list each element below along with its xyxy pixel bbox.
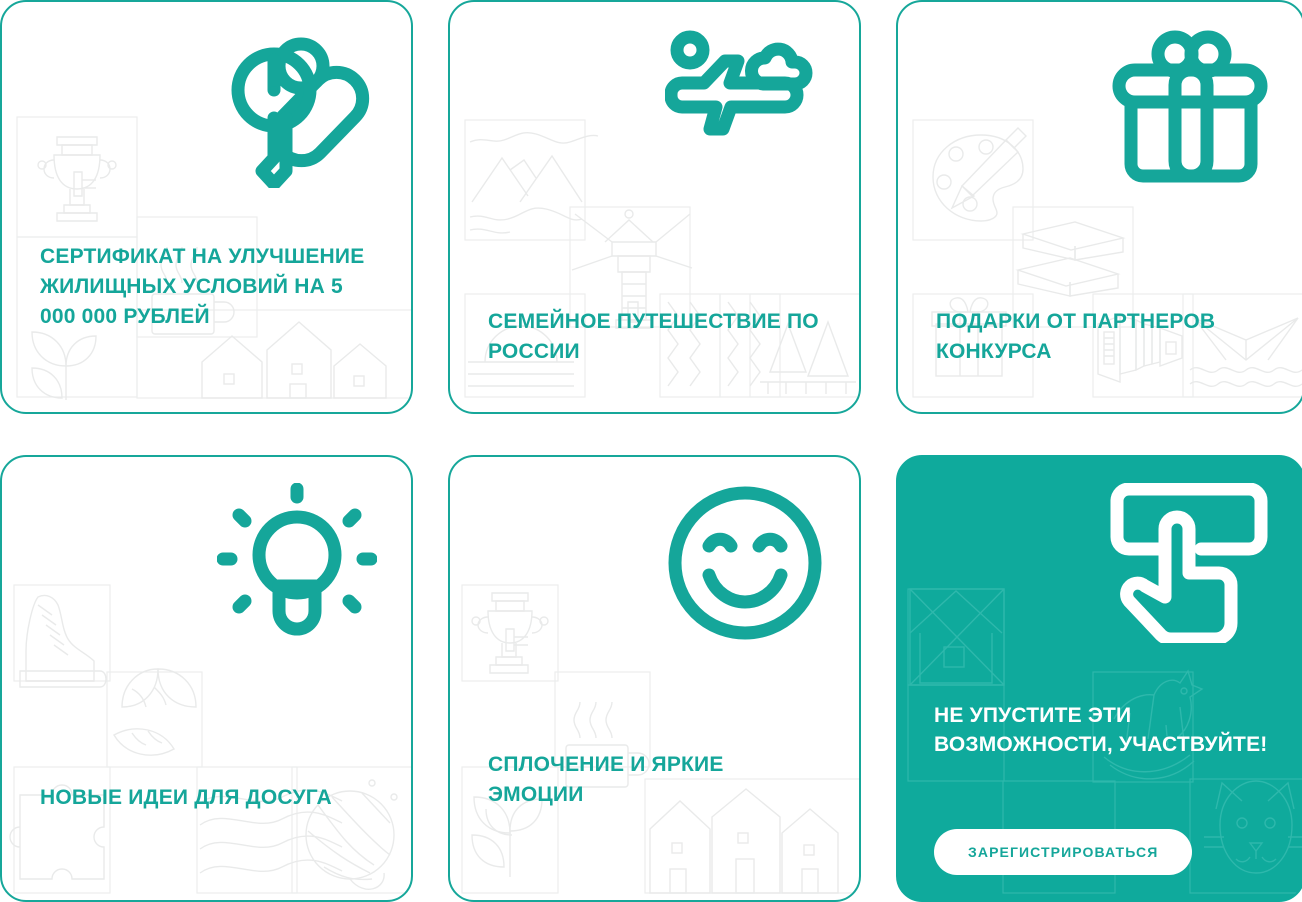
cat-icon xyxy=(1204,781,1302,873)
prize-card-label: Семейное путешествие по России xyxy=(488,307,825,367)
nuts-icon xyxy=(114,669,196,755)
prize-card-bright-emotions[interactable]: Сплочение и яркие эмоции xyxy=(448,455,861,902)
gift-icon xyxy=(1109,28,1269,188)
prize-card-label: Новые идеи для досуга xyxy=(40,783,377,813)
cta-headline: Не упустите эти возможности, участвуйте! xyxy=(934,702,1277,760)
ice-skate-icon xyxy=(20,595,106,687)
airplane-icon xyxy=(665,28,825,188)
keys-icon xyxy=(217,28,377,188)
prize-card-family-travel[interactable]: Семейное путешествие по России xyxy=(448,0,861,414)
register-button[interactable]: Зарегистрироваться xyxy=(934,829,1192,875)
lightbulb-icon xyxy=(217,483,377,643)
samovar-icon xyxy=(38,137,116,221)
prize-card-label: Подарки от партнеров конкурса xyxy=(936,307,1269,367)
mountains-icon xyxy=(470,133,598,233)
cta-card-register[interactable]: Не упустите эти возможности, участвуйте!… xyxy=(896,455,1302,902)
books-icon xyxy=(1018,222,1123,296)
prize-card-label: Сплочение и яркие эмоции xyxy=(488,750,825,810)
prize-card-label: Сертификат на улучшение жилищных условий… xyxy=(40,242,377,331)
prize-card-partner-gifts[interactable]: Подарки от партнеров конкурса xyxy=(896,0,1302,414)
houses-icon xyxy=(202,322,386,398)
leaves-icon xyxy=(32,332,96,400)
smiley-icon xyxy=(665,483,825,643)
tap-hand-icon xyxy=(1109,483,1269,643)
samovar-icon xyxy=(472,593,548,673)
prizes-grid: Сертификат на улучшение жилищных условий… xyxy=(0,0,1302,902)
prize-card-certificate[interactable]: Сертификат на улучшение жилищных условий… xyxy=(0,0,413,414)
palette-icon xyxy=(933,128,1026,221)
prize-card-leisure-ideas[interactable]: Новые идеи для досуга xyxy=(0,455,413,902)
house-icon xyxy=(910,589,1004,685)
